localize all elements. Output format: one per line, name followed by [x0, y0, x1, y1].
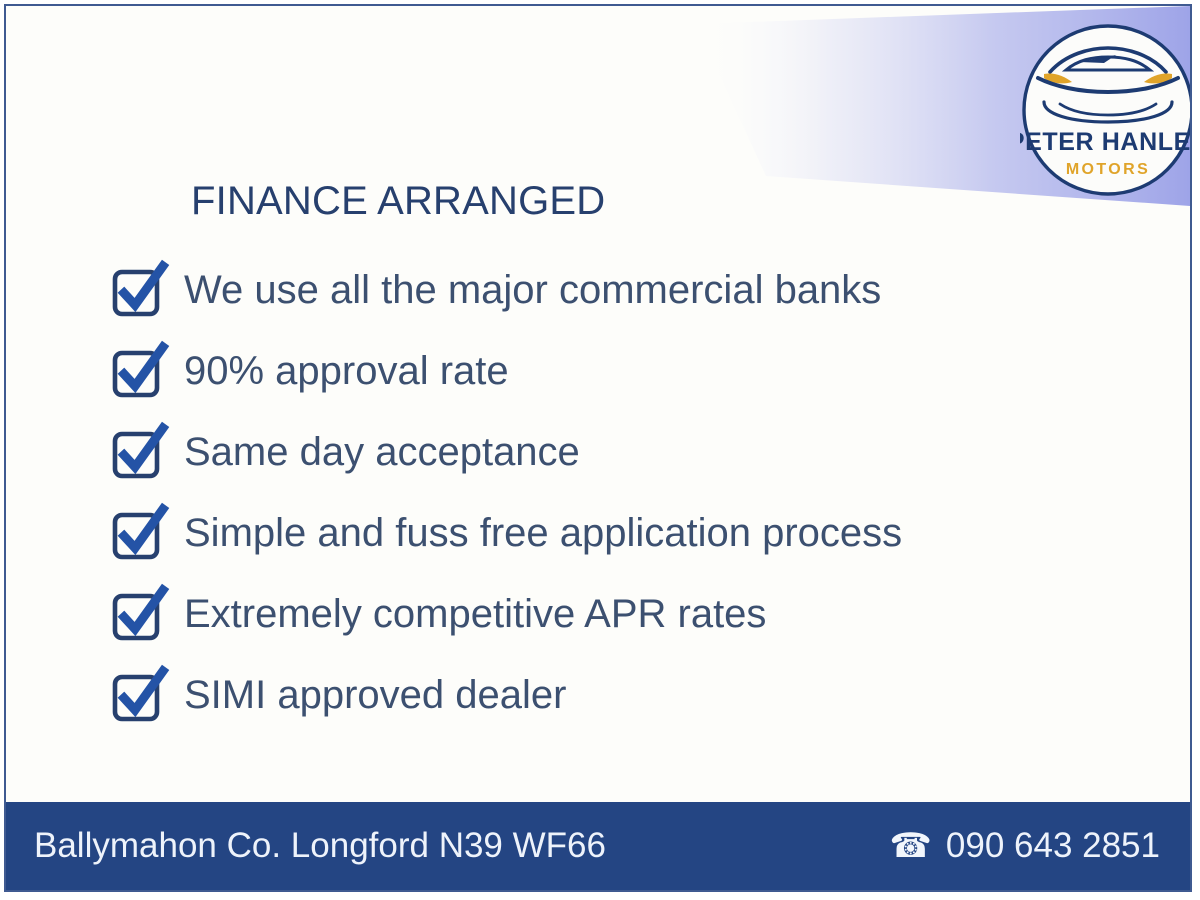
checkbox-checked-icon [110, 502, 172, 564]
logo-wordmark-secondary: MOTORS [1066, 161, 1150, 178]
logo-wordmark-primary: PETER HANLEY [1020, 128, 1192, 156]
checkbox-checked-icon [110, 259, 172, 321]
phone-number[interactable]: 090 643 2851 [946, 826, 1160, 866]
contact-footer: Ballymahon Co. Longford N39 WF66 ☎ 090 6… [6, 802, 1190, 890]
checkbox-checked-icon [110, 664, 172, 726]
benefits-list: We use all the major commercial banks 90… [110, 249, 1110, 735]
checkbox-checked-icon [110, 583, 172, 645]
checkbox-checked-icon [110, 421, 172, 483]
list-item-label: 90% approval rate [184, 351, 509, 391]
dealer-logo-svg: PETER HANLEY MOTORS [1020, 22, 1192, 198]
dealer-logo: PETER HANLEY MOTORS [1020, 22, 1192, 198]
dealer-address: Ballymahon Co. Longford N39 WF66 [34, 826, 606, 866]
list-item-label: Simple and fuss free application process [184, 513, 902, 553]
list-item: SIMI approved dealer [110, 654, 1110, 735]
list-item: Extremely competitive APR rates [110, 573, 1110, 654]
list-item-label: Same day acceptance [184, 432, 580, 472]
list-item: Simple and fuss free application process [110, 492, 1110, 573]
list-item-label: We use all the major commercial banks [184, 270, 881, 310]
telephone-icon: ☎ [890, 829, 932, 863]
list-item: Same day acceptance [110, 411, 1110, 492]
phone-contact[interactable]: ☎ 090 643 2851 [890, 826, 1160, 866]
list-item-label: Extremely competitive APR rates [184, 594, 766, 634]
checkbox-checked-icon [110, 340, 172, 402]
poster-root: PETER HANLEY MOTORS FINANCE ARRANGED We … [0, 0, 1200, 900]
list-item: We use all the major commercial banks [110, 249, 1110, 330]
page-title: FINANCE ARRANGED [191, 179, 605, 224]
list-item-label: SIMI approved dealer [184, 675, 566, 715]
list-item: 90% approval rate [110, 330, 1110, 411]
finance-card: PETER HANLEY MOTORS FINANCE ARRANGED We … [4, 4, 1192, 892]
